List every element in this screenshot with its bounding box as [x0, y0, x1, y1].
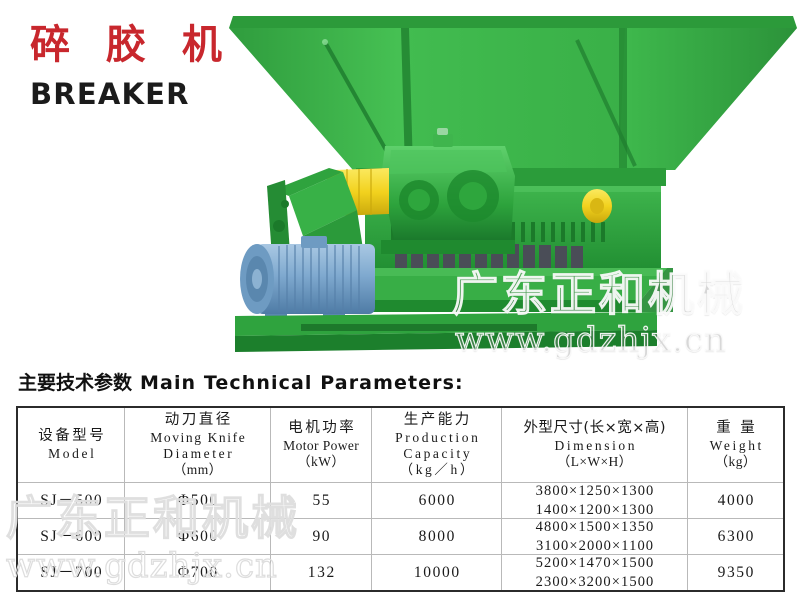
table-row: SJ－500 Φ500 55 6000 3800×1250×1300 1400×…	[18, 482, 783, 518]
spec-table: 设备型号 Model 动刀直径 Moving Knife Diameter （m…	[16, 406, 785, 592]
page-title: 碎 胶 机 BREAKER	[30, 24, 233, 109]
header-weight-cn: 重 量	[714, 420, 758, 438]
value-dimension-line2: 1400×1200×1300	[535, 501, 655, 519]
header-dimension-cn: 外型尺寸(长×宽×高)	[523, 420, 666, 438]
section-heading: 主要技术参数 Main Technical Parameters:	[18, 368, 464, 395]
product-spec-sheet: 碎 胶 机 BREAKER	[0, 0, 800, 612]
header-knife-cn: 动刀直径	[162, 412, 233, 430]
machine-photo	[205, 0, 800, 358]
value-dimension-line1: 4800×1500×1350	[535, 519, 655, 537]
header-capacity-cn: 生产能力	[401, 412, 472, 430]
header-dimension-en: Dimension	[552, 438, 637, 454]
header-capacity-en2: Capacity	[401, 446, 472, 462]
value-model: SJ－700	[39, 563, 104, 582]
value-model: SJ－500	[39, 491, 104, 510]
value-knife-diameter: Φ600	[176, 527, 219, 546]
header-cell-knife-diameter: 动刀直径 Moving Knife Diameter （mm）	[124, 408, 270, 482]
section-heading-cn: 主要技术参数	[18, 368, 132, 395]
header-cell-dimension: 外型尺寸(长×宽×高) Dimension （L×W×H）	[501, 408, 687, 482]
value-capacity: 8000	[417, 527, 456, 546]
value-motor-power: 132	[306, 563, 336, 582]
page-title-en: BREAKER	[30, 80, 233, 109]
cell-model: SJ－700	[18, 555, 124, 590]
cell-capacity: 6000	[371, 483, 501, 518]
cell-capacity: 8000	[371, 519, 501, 554]
header-knife-en2: Diameter	[161, 446, 235, 462]
value-weight: 9350	[716, 563, 755, 582]
value-capacity: 6000	[417, 491, 456, 510]
value-weight: 4000	[716, 491, 755, 510]
header-cell-capacity: 生产能力 Production Capacity （kg／h）	[371, 408, 501, 482]
cell-dimension: 5200×1470×1500 2300×3200×1500	[501, 555, 687, 590]
cell-dimension: 4800×1500×1350 3100×2000×1100	[501, 519, 687, 554]
cell-motor-power: 90	[270, 519, 371, 554]
value-dimension-line2: 2300×3200×1500	[535, 573, 655, 591]
cell-model: SJ－600	[18, 519, 124, 554]
cell-capacity: 10000	[371, 555, 501, 590]
cell-motor-power: 132	[270, 555, 371, 590]
value-dimension-line2: 3100×2000×1100	[535, 537, 654, 555]
cell-weight: 9350	[687, 555, 783, 590]
value-motor-power: 55	[311, 491, 331, 510]
table-header-row: 设备型号 Model 动刀直径 Moving Knife Diameter （m…	[18, 408, 783, 482]
header-cell-motor-power: 电机功率 Motor Power （kW）	[270, 408, 371, 482]
header-knife-en1: Moving Knife	[149, 430, 247, 446]
value-dimension-line1: 5200×1470×1500	[535, 555, 655, 573]
header-motor-en: Motor Power	[283, 438, 359, 454]
header-dimension-unit: （L×W×H）	[556, 454, 632, 470]
table-row: SJ－600 Φ600 90 8000 4800×1500×1350 3100×…	[18, 518, 783, 554]
cell-weight: 6300	[687, 519, 783, 554]
header-cell-weight: 重 量 Weight （kg）	[687, 408, 783, 482]
header-motor-unit: （kW）	[297, 454, 345, 470]
value-model: SJ－600	[39, 527, 104, 546]
cell-knife-diameter: Φ700	[124, 555, 270, 590]
value-capacity: 10000	[412, 563, 460, 582]
cell-dimension: 3800×1250×1300 1400×1200×1300	[501, 483, 687, 518]
section-heading-en: Main Technical Parameters:	[140, 372, 464, 394]
value-weight: 6300	[716, 527, 755, 546]
header-capacity-en1: Production	[393, 430, 481, 446]
header-knife-unit: （mm）	[173, 462, 223, 478]
value-knife-diameter: Φ500	[176, 491, 219, 510]
header-cell-model: 设备型号 Model	[18, 408, 124, 482]
table-row: SJ－700 Φ700 132 10000 5200×1470×1500 230…	[18, 554, 783, 590]
header-model-en: Model	[46, 446, 97, 462]
machine-illustration	[205, 0, 800, 358]
header-model-cn: 设备型号	[36, 428, 107, 446]
header-motor-cn: 电机功率	[286, 420, 357, 438]
value-dimension-line1: 3800×1250×1300	[535, 483, 655, 501]
page-title-cn: 碎 胶 机	[30, 24, 233, 67]
cell-knife-diameter: Φ600	[124, 519, 270, 554]
cell-motor-power: 55	[270, 483, 371, 518]
value-motor-power: 90	[311, 527, 331, 546]
cell-weight: 4000	[687, 483, 783, 518]
header-weight-unit: （kg）	[714, 454, 757, 470]
header-capacity-unit: （kg／h）	[397, 462, 476, 478]
header-weight-en: Weight	[707, 438, 764, 454]
value-knife-diameter: Φ700	[176, 563, 219, 582]
cell-knife-diameter: Φ500	[124, 483, 270, 518]
cell-model: SJ－500	[18, 483, 124, 518]
